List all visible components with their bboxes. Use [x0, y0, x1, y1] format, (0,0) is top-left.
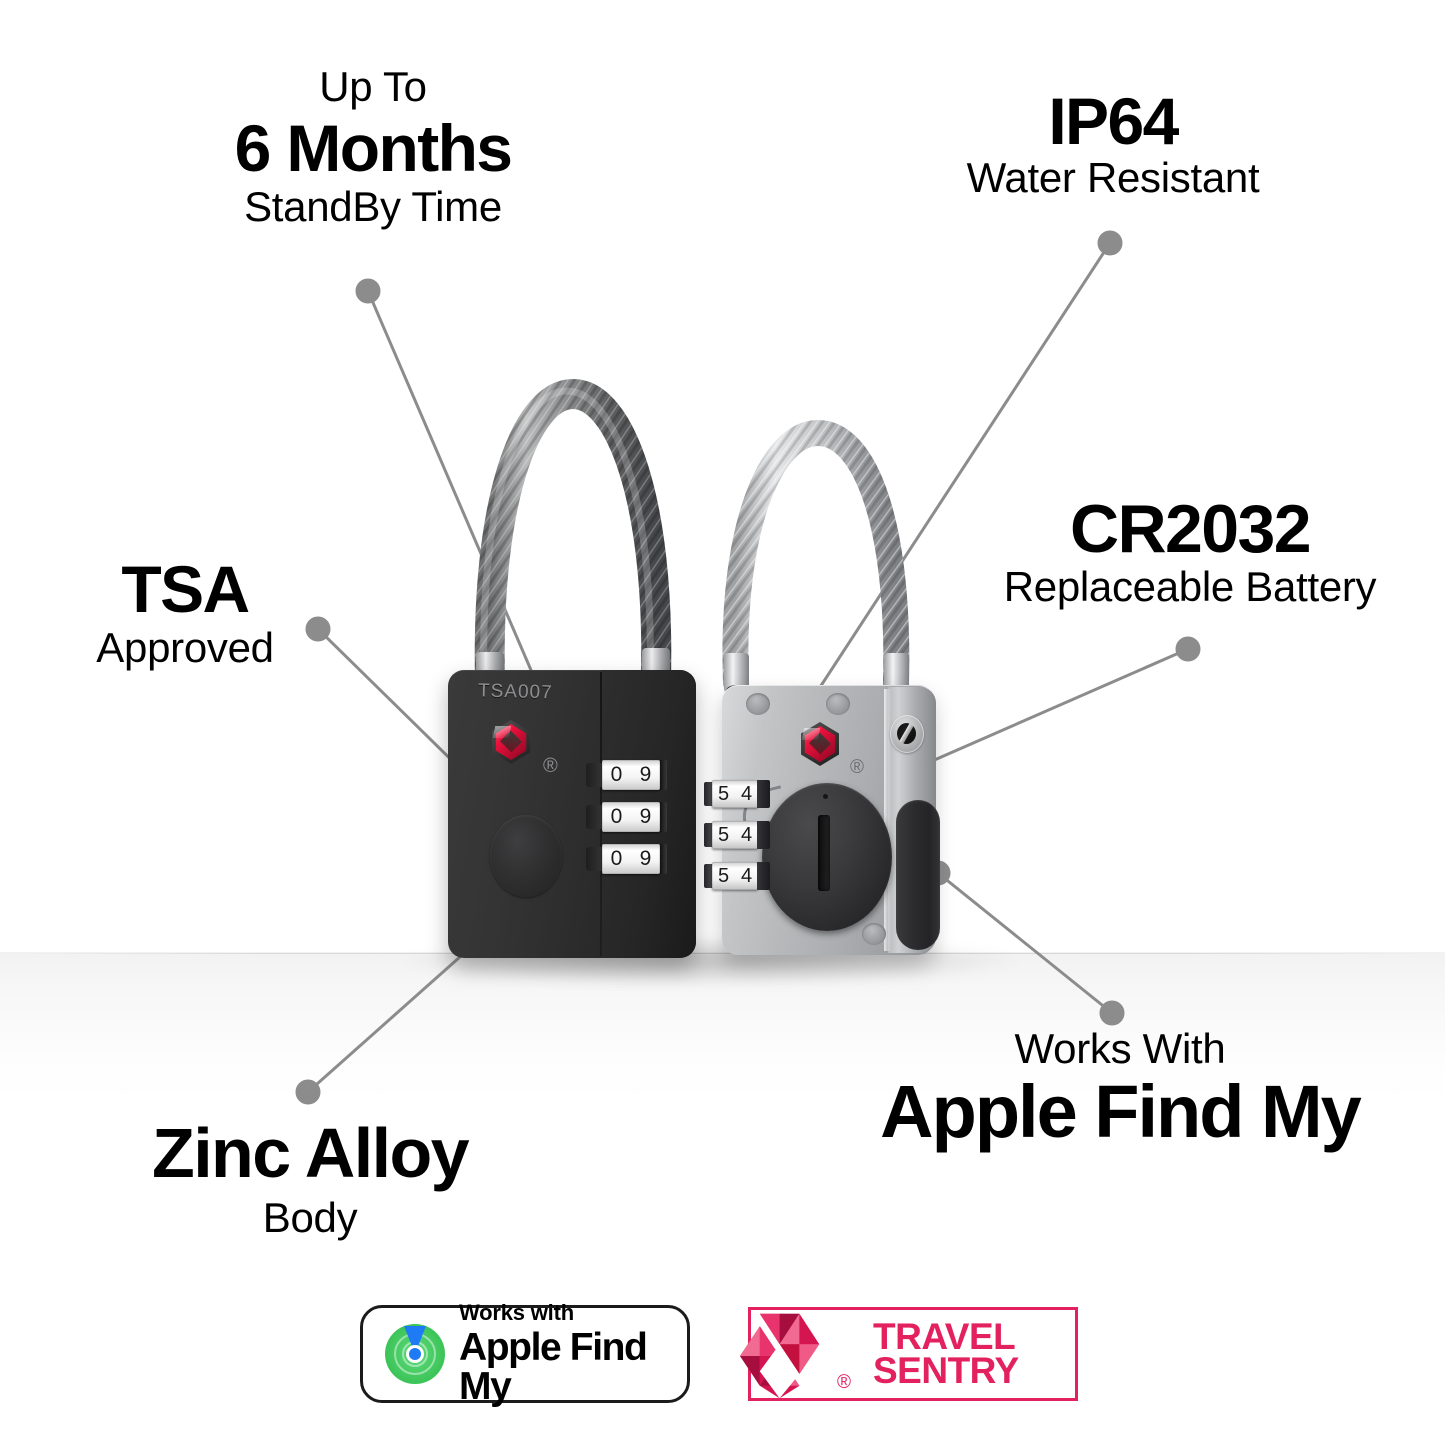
dial-row[interactable]: 54: [704, 780, 766, 809]
silver-lock-shackle-hole-right: [826, 693, 850, 715]
black-lock-combination-dials[interactable]: 09 09 09: [596, 760, 672, 886]
dial-digit: 5: [718, 783, 729, 806]
callout-findmy-headline: Apple Find My: [845, 1075, 1395, 1149]
silver-lock-side-panel: [896, 800, 940, 950]
black-lock-cable-shackle: [448, 360, 708, 700]
dial-digit: 0: [611, 763, 623, 787]
dial-digit: 5: [718, 824, 729, 847]
callout-battery-headline: CR2032: [970, 495, 1410, 563]
travel-sentry-registered-mark: ®: [837, 1372, 851, 1394]
travel-sentry-line2: SENTRY: [873, 1354, 1019, 1388]
callout-tsa-subline: Approved: [55, 626, 315, 670]
black-lock-tsa007-label: TSA007: [478, 680, 599, 705]
silver-lock-rotary-knob[interactable]: [762, 783, 892, 931]
dial-digit: 0: [611, 805, 623, 829]
black-lock-button[interactable]: [490, 815, 562, 897]
callout-water-resistance: IP64 Water Resistant: [938, 88, 1288, 200]
silver-lock-registered-mark: ®: [850, 757, 864, 779]
apple-find-my-badge: Works with Apple Find My: [360, 1305, 690, 1403]
dial-digit: 9: [640, 847, 652, 871]
dial-row[interactable]: 54: [704, 862, 766, 891]
badge-apple-find-my-label: Apple Find My: [459, 1328, 687, 1406]
callout-zinc-headline: Zinc Alloy: [110, 1118, 510, 1188]
badge-works-with-label: Works with: [459, 1302, 687, 1324]
silver-lock-keyhole[interactable]: [890, 715, 924, 753]
black-lock-registered-mark: ®: [543, 755, 558, 778]
callout-ip64-subline: Water Resistant: [938, 156, 1288, 200]
dial-digit: 9: [640, 805, 652, 829]
callout-zinc-alloy: Zinc Alloy Body: [110, 1118, 510, 1240]
dial-digit: 4: [741, 783, 752, 806]
callout-tsa-headline: TSA: [55, 556, 315, 622]
travel-sentry-diamond-icon: [731, 1306, 839, 1406]
dial-digit: 0: [611, 847, 623, 871]
callout-zinc-subline: Body: [110, 1196, 510, 1240]
callout-apple-find-my: Works With Apple Find My: [845, 1028, 1395, 1149]
silver-lock-screw-hole: [862, 923, 886, 945]
callout-findmy-eyebrow: Works With: [845, 1028, 1395, 1071]
callout-standby-subline: StandBy Time: [188, 185, 558, 229]
callout-tsa-approved: TSA Approved: [55, 556, 315, 670]
dial-digit: 5: [718, 865, 729, 888]
find-my-radar-icon: [385, 1324, 445, 1384]
product-black-padlock: TSA007 ® 09 09 09: [448, 360, 708, 980]
callout-standby-eyebrow: Up To: [188, 66, 558, 109]
dial-row[interactable]: 54: [704, 821, 766, 850]
tsa-diamond-icon: [795, 722, 845, 766]
product-silver-padlock: ® 54 54 54: [700, 395, 960, 985]
dial-row[interactable]: 09: [596, 844, 672, 875]
dial-row[interactable]: 09: [596, 802, 672, 833]
knob-indicator-dot: [823, 794, 828, 799]
dial-digit: 9: [640, 763, 652, 787]
travel-sentry-badge: ® TRAVEL SENTRY: [748, 1307, 1078, 1401]
callout-ip64-headline: IP64: [938, 88, 1288, 154]
callout-standby-headline: 6 Months: [188, 115, 558, 181]
certification-badges: Works with Apple Find My: [0, 1305, 1445, 1413]
travel-sentry-line1: TRAVEL: [873, 1320, 1019, 1354]
callout-battery-subline: Replaceable Battery: [970, 565, 1410, 609]
callout-battery: CR2032 Replaceable Battery: [970, 495, 1410, 609]
silver-lock-combination-dials[interactable]: 54 54 54: [704, 780, 766, 903]
tsa-diamond-icon: [486, 720, 536, 764]
infographic-canvas: Up To 6 Months StandBy Time IP64 Water R…: [0, 0, 1445, 1445]
callout-standby-time: Up To 6 Months StandBy Time: [188, 66, 558, 229]
knob-slot: [818, 815, 830, 891]
dial-digit: 4: [741, 865, 752, 888]
silver-lock-cable-shackle: [700, 395, 960, 715]
dial-digit: 4: [741, 824, 752, 847]
dial-row[interactable]: 09: [596, 760, 672, 791]
silver-lock-shackle-hole-left: [746, 693, 770, 715]
